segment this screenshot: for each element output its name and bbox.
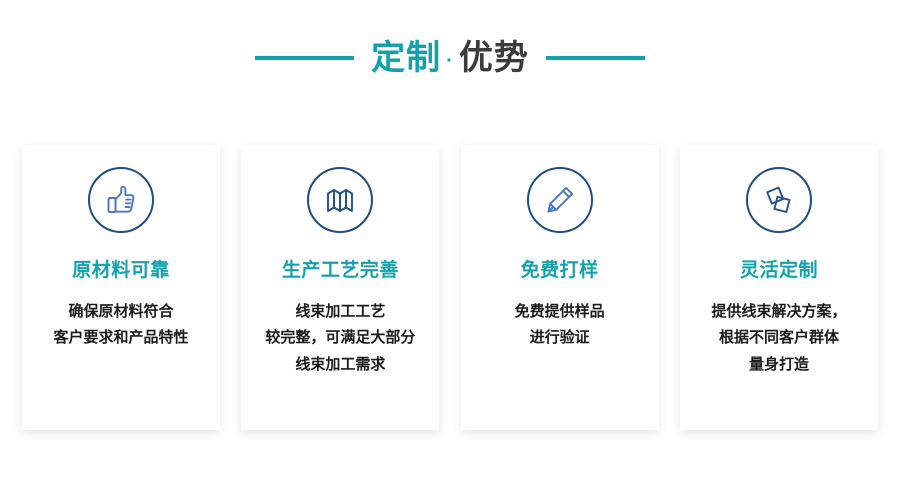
heading-main-text: 优势 (459, 41, 529, 75)
card-title: 生产工艺完善 (282, 260, 399, 283)
heading-separator-dot: · (441, 51, 459, 71)
card-body-line: 进行验证 (515, 325, 605, 352)
card-body: 线束加工工艺 较完整，可满足大部分 线束加工需求 (261, 299, 419, 379)
advantage-card[interactable]: 免费打样 免费提供样品 进行验证 (461, 145, 659, 430)
card-body: 提供线束解决方案， 根据不同客户群体 量身打造 (707, 299, 850, 379)
card-body: 确保原材料符合 客户要求和产品特性 (49, 299, 192, 352)
card-body-line: 免费提供样品 (515, 299, 605, 326)
card-body-line: 确保原材料符合 (53, 299, 188, 326)
advantage-card[interactable]: 生产工艺完善 线束加工工艺 较完整，可满足大部分 线束加工需求 (241, 145, 439, 430)
card-body: 免费提供样品 进行验证 (511, 299, 609, 352)
card-body-line: 提供线束解决方案， (711, 299, 846, 326)
thumbs-up-icon (88, 167, 154, 233)
advantage-card[interactable]: 灵活定制 提供线束解决方案， 根据不同客户群体 量身打造 (680, 145, 878, 430)
section-heading: 定制 · 优势 (0, 30, 900, 86)
heading-accent-text: 定制 (371, 41, 441, 75)
card-body-line: 根据不同客户群体 (711, 325, 846, 352)
overlapping-cards-icon (746, 167, 812, 233)
heading-title: 定制 · 优势 (371, 41, 529, 75)
card-body-line: 客户要求和产品特性 (53, 325, 188, 352)
heading-rule-left (255, 56, 354, 60)
heading-rule-right (546, 56, 645, 60)
card-title: 灵活定制 (740, 260, 818, 283)
card-body-line: 线束加工需求 (265, 352, 415, 379)
advantage-card[interactable]: 原材料可靠 确保原材料符合 客户要求和产品特性 (22, 145, 220, 430)
card-title: 免费打样 (521, 260, 599, 283)
pencil-icon (527, 167, 593, 233)
card-title: 原材料可靠 (72, 260, 170, 283)
advantage-card-list: 原材料可靠 确保原材料符合 客户要求和产品特性 生产工艺完善 线束加工工艺 较完… (22, 145, 878, 430)
card-body-line: 量身打造 (711, 352, 846, 379)
card-body-line: 较完整，可满足大部分 (265, 325, 415, 352)
folded-map-icon (307, 167, 373, 233)
card-body-line: 线束加工工艺 (265, 299, 415, 326)
